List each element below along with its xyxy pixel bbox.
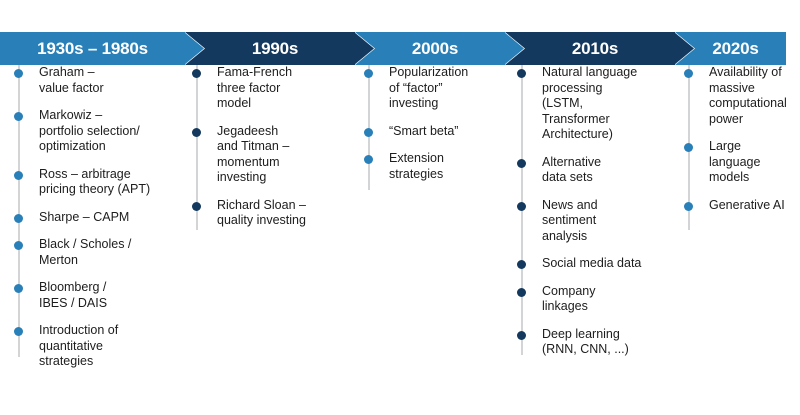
era-bullet-list-1990s: Fama-French three factor modelJegadeesh … [196, 65, 356, 229]
era-bullet-list-2010s: Natural language processing (LSTM, Trans… [521, 65, 681, 358]
list-item: Availability of massive computational po… [688, 65, 793, 127]
list-item: Markowiz – portfolio selection/ optimiza… [18, 108, 183, 155]
list-item: Alternative data sets [521, 155, 681, 186]
list-item: Company linkages [521, 284, 681, 315]
list-item: Richard Sloan – quality investing [196, 198, 356, 229]
bullet-dot-icon [192, 128, 201, 137]
list-item: Ross – arbitrage pricing theory (APT) [18, 167, 183, 198]
list-item: Social media data [521, 256, 681, 272]
list-item-label: Natural language processing (LSTM, Trans… [542, 65, 637, 141]
list-item-label: Company linkages [542, 284, 596, 314]
era-header-label-2020s: 2020s [712, 40, 758, 57]
list-item: Introduction of quantitative strategies [18, 323, 183, 370]
bullet-dot-icon [684, 202, 693, 211]
list-item: Black / Scholes / Merton [18, 237, 183, 268]
list-item: Generative AI [688, 198, 793, 214]
list-item-label: Ross – arbitrage pricing theory (APT) [39, 167, 150, 197]
bullet-dot-icon [14, 241, 23, 250]
list-item-label: Richard Sloan – quality investing [217, 198, 306, 228]
list-item: Sharpe – CAPM [18, 210, 183, 226]
list-item-label: Extension strategies [389, 151, 444, 181]
bullet-dot-icon [364, 128, 373, 137]
list-item-label: Large language models [709, 139, 760, 184]
list-item: Natural language processing (LSTM, Trans… [521, 65, 681, 143]
era-header-label-1930s-1980s: 1930s – 1980s [37, 40, 148, 57]
bullet-dot-icon [14, 69, 23, 78]
bullet-dot-icon [364, 155, 373, 164]
list-item-label: Markowiz – portfolio selection/ optimiza… [39, 108, 140, 153]
list-item-label: Jegadeesh and Titman – momentum investin… [217, 124, 289, 185]
bullet-dot-icon [517, 202, 526, 211]
list-item-label: Fama-French three factor model [217, 65, 292, 110]
era-bullet-list-2020s: Availability of massive computational po… [688, 65, 793, 213]
list-item: Large language models [688, 139, 793, 186]
era-header-band: 1930s – 1980s1990s2000s2010s2020s [0, 32, 786, 65]
list-item: News and sentiment analysis [521, 198, 681, 245]
era-header-segment-2010s[interactable]: 2010s [505, 32, 675, 65]
list-item: Deep learning (RNN, CNN, ...) [521, 327, 681, 358]
bullet-dot-icon [517, 288, 526, 297]
era-columns-area: Graham – value factorMarkowiz – portfoli… [0, 65, 800, 415]
era-column-2000s: Popularization of “factor” investing“Sma… [368, 65, 518, 194]
list-item-label: Deep learning (RNN, CNN, ...) [542, 327, 629, 357]
list-item: Fama-French three factor model [196, 65, 356, 112]
era-header-segment-1990s[interactable]: 1990s [185, 32, 355, 65]
list-item-label: Alternative data sets [542, 155, 601, 185]
era-column-2020s: Availability of massive computational po… [688, 65, 793, 225]
bullet-dot-icon [364, 69, 373, 78]
bullet-dot-icon [517, 159, 526, 168]
timeline-infographic: 1930s – 1980s1990s2000s2010s2020s Graham… [0, 0, 800, 415]
list-item: “Smart beta” [368, 124, 518, 140]
list-item: Extension strategies [368, 151, 518, 182]
list-item: Graham – value factor [18, 65, 183, 96]
list-item-label: Social media data [542, 256, 641, 270]
bullet-dot-icon [684, 69, 693, 78]
list-item-label: Availability of massive computational po… [709, 65, 787, 126]
era-bullet-list-1930s-1980s: Graham – value factorMarkowiz – portfoli… [18, 65, 183, 370]
list-item: Jegadeesh and Titman – momentum investin… [196, 124, 356, 186]
bullet-dot-icon [14, 112, 23, 121]
bullet-dot-icon [684, 143, 693, 152]
era-header-segment-2000s[interactable]: 2000s [355, 32, 505, 65]
list-item: Popularization of “factor” investing [368, 65, 518, 112]
bullet-dot-icon [14, 327, 23, 336]
era-header-segment-1930s-1980s[interactable]: 1930s – 1980s [0, 32, 185, 65]
bullet-dot-icon [517, 69, 526, 78]
era-column-1990s: Fama-French three factor modelJegadeesh … [196, 65, 356, 241]
bullet-dot-icon [14, 284, 23, 293]
bullet-dot-icon [14, 171, 23, 180]
list-item-label: Black / Scholes / Merton [39, 237, 131, 267]
list-item-label: “Smart beta” [389, 124, 458, 138]
era-header-label-2010s: 2010s [572, 40, 618, 57]
list-item: Bloomberg / IBES / DAIS [18, 280, 183, 311]
list-item-label: Sharpe – CAPM [39, 210, 129, 224]
list-item-label: Popularization of “factor” investing [389, 65, 468, 110]
list-item-label: Generative AI [709, 198, 785, 212]
list-item-label: News and sentiment analysis [542, 198, 598, 243]
bullet-dot-icon [192, 69, 201, 78]
bullet-dot-icon [517, 331, 526, 340]
bullet-dot-icon [192, 202, 201, 211]
era-header-label-1990s: 1990s [252, 40, 298, 57]
era-column-1930s-1980s: Graham – value factorMarkowiz – portfoli… [18, 65, 183, 382]
list-item-label: Graham – value factor [39, 65, 104, 95]
list-item-label: Bloomberg / IBES / DAIS [39, 280, 107, 310]
era-column-2010s: Natural language processing (LSTM, Trans… [521, 65, 681, 370]
era-header-label-2000s: 2000s [412, 40, 458, 57]
bullet-dot-icon [517, 260, 526, 269]
list-item-label: Introduction of quantitative strategies [39, 323, 118, 368]
bullet-dot-icon [14, 214, 23, 223]
era-bullet-list-2000s: Popularization of “factor” investing“Sma… [368, 65, 518, 182]
